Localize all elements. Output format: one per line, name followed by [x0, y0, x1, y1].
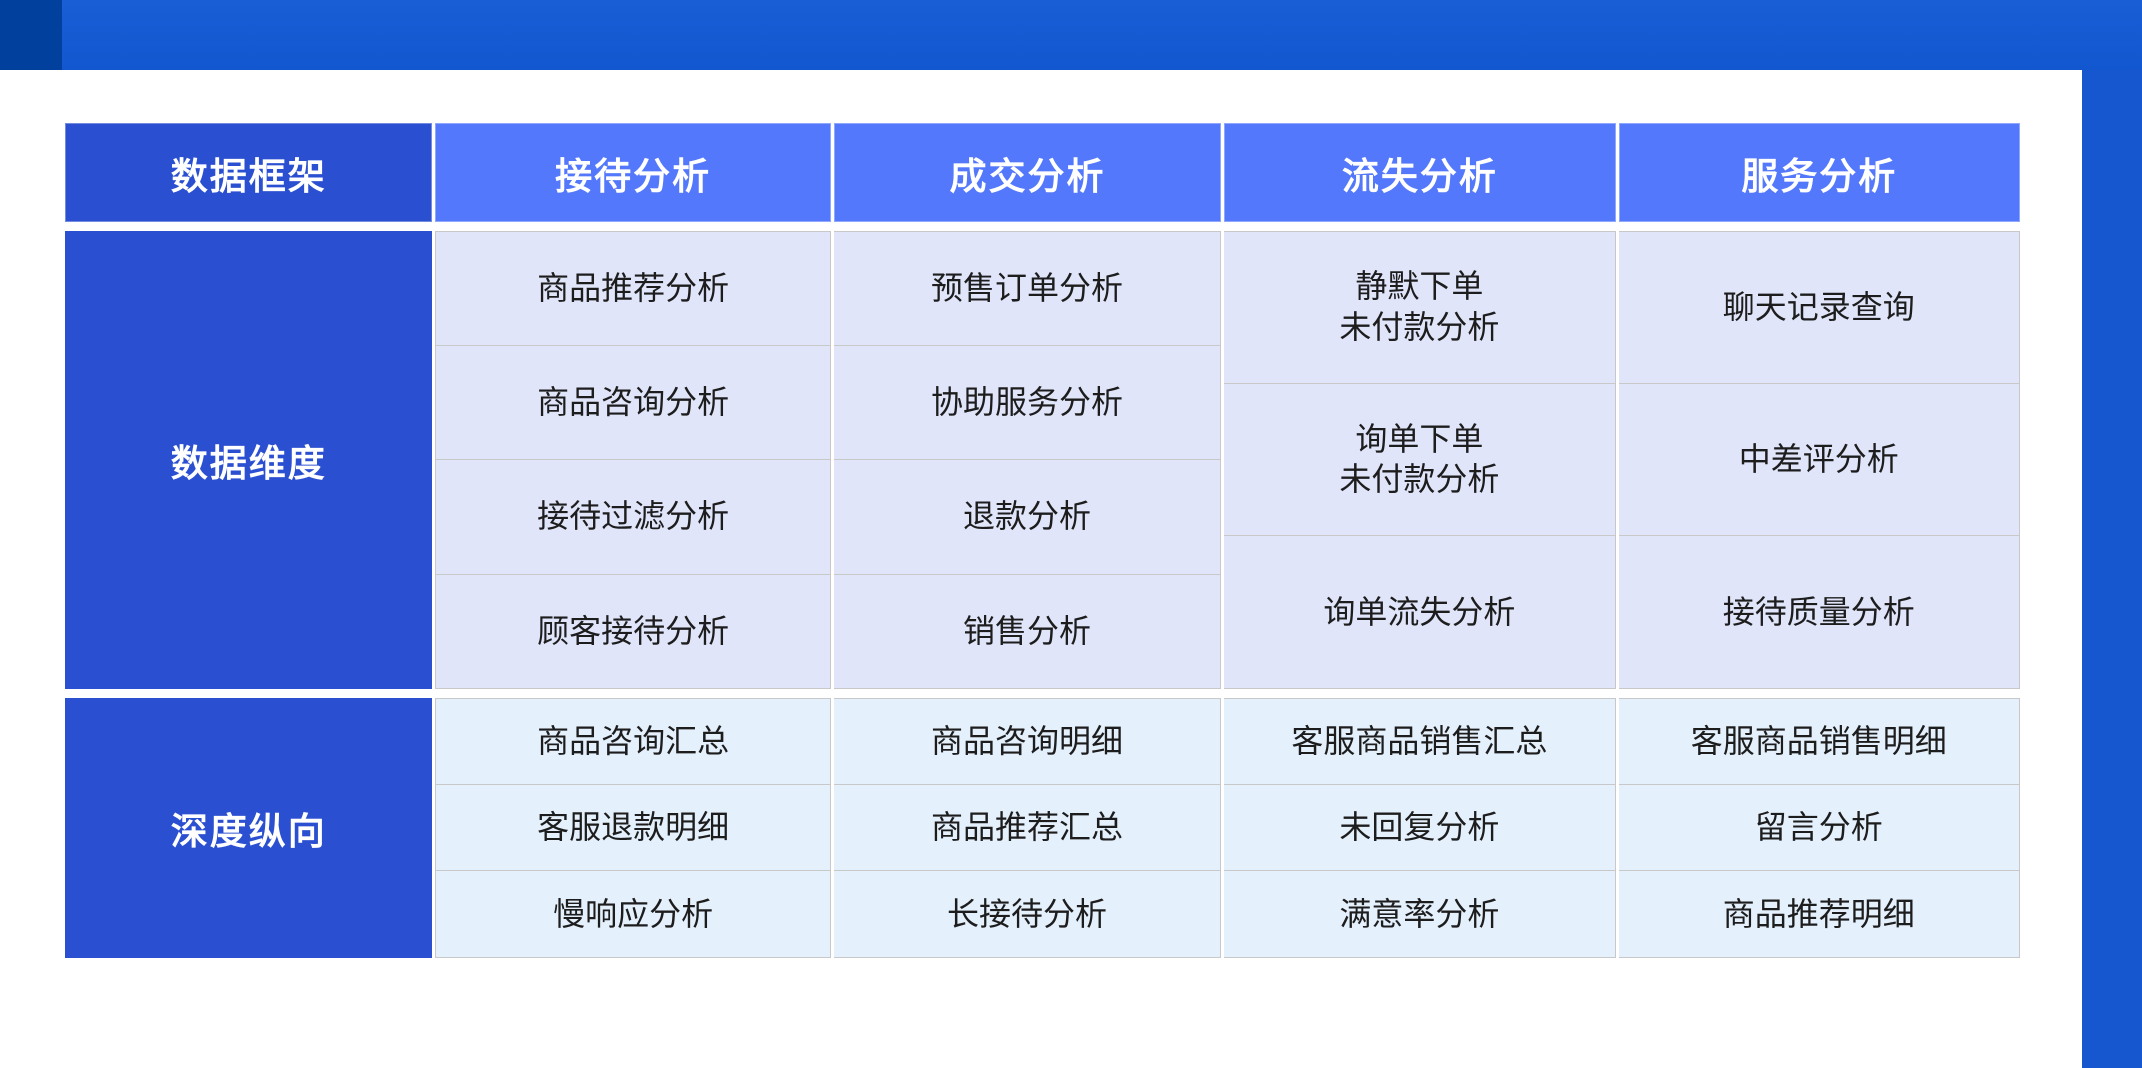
- dimension-column-reception: 商品推荐分析 商品咨询分析 接待过滤分析 顾客接待分析: [435, 231, 830, 689]
- deep-column-service: 客服商品销售明细 留言分析 商品推荐明细: [1619, 698, 2020, 958]
- dimension-column-churn: 静默下单 未付款分析 询单下单 未付款分析 询单流失分析: [1224, 231, 1615, 689]
- page-root: 数据框架 接待分析 成交分析 流失分析 服务分析 数据维度 商品推荐分析 商品咨…: [0, 0, 2142, 1068]
- top-left-tab: [0, 0, 62, 70]
- matrix-cell[interactable]: 商品推荐汇总: [834, 785, 1221, 872]
- right-blue-rail: [2082, 70, 2142, 1068]
- dimension-column-deal: 预售订单分析 协助服务分析 退款分析 销售分析: [834, 231, 1221, 689]
- matrix-cell[interactable]: 客服商品销售汇总: [1224, 698, 1615, 785]
- matrix-cell[interactable]: 客服退款明细: [435, 785, 830, 872]
- matrix-header-row: 数据框架 接待分析 成交分析 流失分析 服务分析: [65, 123, 2020, 222]
- matrix-cell[interactable]: 接待质量分析: [1619, 536, 2020, 689]
- matrix-cell[interactable]: 预售订单分析: [834, 231, 1221, 346]
- matrix-cell[interactable]: 未回复分析: [1224, 785, 1615, 872]
- matrix-cell[interactable]: 商品推荐明细: [1619, 871, 2020, 958]
- matrix-cell[interactable]: 商品推荐分析: [435, 231, 830, 346]
- matrix-cell[interactable]: 中差评分析: [1619, 384, 2020, 537]
- rail-notch: [2072, 70, 2082, 110]
- matrix-cell[interactable]: 商品咨询汇总: [435, 698, 830, 785]
- matrix-cell[interactable]: 接待过滤分析: [435, 460, 830, 575]
- column-header-reception[interactable]: 接待分析: [435, 123, 830, 222]
- deep-column-churn: 客服商品销售汇总 未回复分析 满意率分析: [1224, 698, 1615, 958]
- matrix-cell[interactable]: 静默下单 未付款分析: [1224, 231, 1615, 384]
- matrix-cell[interactable]: 慢响应分析: [435, 871, 830, 958]
- top-header-band: [62, 0, 2142, 70]
- dimension-column-service: 聊天记录查询 中差评分析 接待质量分析: [1619, 231, 2020, 689]
- section-label-deep-vertical: 深度纵向: [65, 698, 432, 958]
- matrix-cell[interactable]: 留言分析: [1619, 785, 2020, 872]
- matrix-cell[interactable]: 商品咨询分析: [435, 346, 830, 461]
- matrix-corner-label: 数据框架: [65, 123, 432, 222]
- column-header-churn[interactable]: 流失分析: [1224, 123, 1615, 222]
- deep-column-deal: 商品咨询明细 商品推荐汇总 长接待分析: [834, 698, 1221, 958]
- matrix-cell[interactable]: 协助服务分析: [834, 346, 1221, 461]
- matrix-cell[interactable]: 顾客接待分析: [435, 575, 830, 690]
- matrix-cell[interactable]: 客服商品销售明细: [1619, 698, 2020, 785]
- matrix-cell[interactable]: 满意率分析: [1224, 871, 1615, 958]
- matrix-cell[interactable]: 聊天记录查询: [1619, 231, 2020, 384]
- header-body-gap: [65, 222, 2020, 231]
- analysis-matrix: 数据框架 接待分析 成交分析 流失分析 服务分析 数据维度 商品推荐分析 商品咨…: [65, 123, 2020, 958]
- matrix-cell[interactable]: 商品咨询明细: [834, 698, 1221, 785]
- matrix-cell[interactable]: 销售分析: [834, 575, 1221, 690]
- matrix-cell[interactable]: 询单流失分析: [1224, 536, 1615, 689]
- deep-column-reception: 商品咨询汇总 客服退款明细 慢响应分析: [435, 698, 830, 958]
- column-header-service[interactable]: 服务分析: [1619, 123, 2020, 222]
- section-data-dimension: 数据维度 商品推荐分析 商品咨询分析 接待过滤分析 顾客接待分析 预售订单分析 …: [65, 231, 2020, 689]
- section-label-data-dimension: 数据维度: [65, 231, 432, 689]
- column-header-deal[interactable]: 成交分析: [834, 123, 1221, 222]
- matrix-cell[interactable]: 长接待分析: [834, 871, 1221, 958]
- section-gap: [65, 689, 2020, 698]
- section-deep-vertical: 深度纵向 商品咨询汇总 客服退款明细 慢响应分析 商品咨询明细 商品推荐汇总 长…: [65, 698, 2020, 958]
- matrix-cell[interactable]: 询单下单 未付款分析: [1224, 384, 1615, 537]
- matrix-cell[interactable]: 退款分析: [834, 460, 1221, 575]
